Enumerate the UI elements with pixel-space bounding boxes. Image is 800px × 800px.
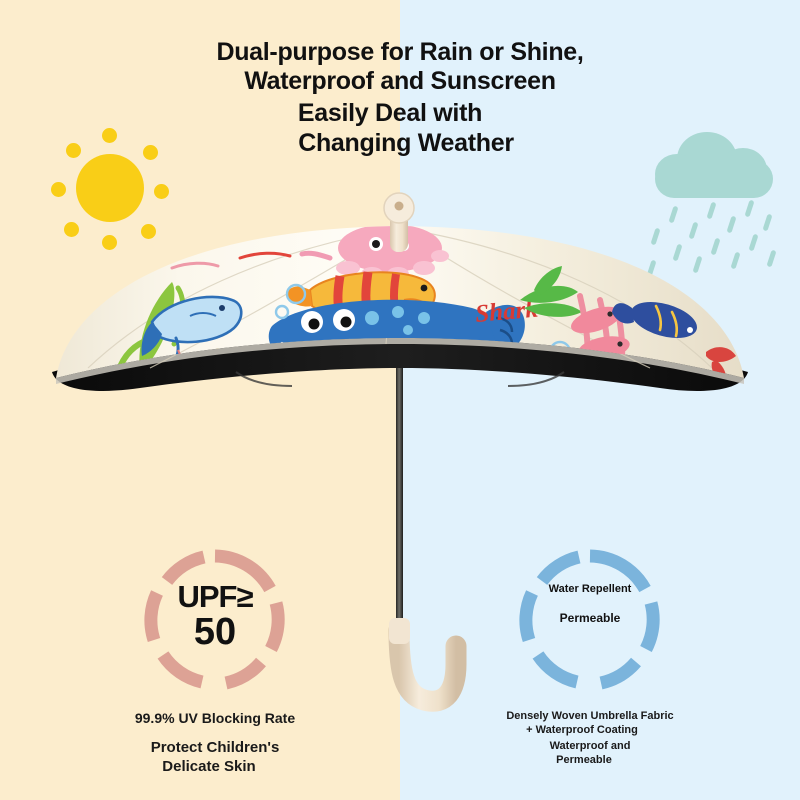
protect-children-caption: Protect Children's Delicate Skin <box>60 739 370 777</box>
fabric-caption: Densely Woven Umbrella Fabric + Waterpro… <box>435 710 745 738</box>
waterproof-badge: Water Repellent Permeable <box>515 545 665 695</box>
upf-label: UPF≥ <box>140 579 290 615</box>
fabric-caption-line-2: + Waterproof Coating <box>427 724 737 738</box>
handle-collar <box>389 618 410 644</box>
waterproof-caption-line-2: Permeable <box>429 754 739 768</box>
uv-blocking-caption: 99.9% UV Blocking Rate <box>60 710 370 728</box>
upf-badge: UPF≥ 50 <box>140 545 290 695</box>
permeable-label: Permeable <box>515 611 665 625</box>
protect-children-line-1: Protect Children's <box>60 739 370 758</box>
fabric-caption-line-1: Densely Woven Umbrella Fabric <box>435 710 745 724</box>
water-repellent-label: Water Repellent <box>515 583 665 595</box>
umbrella-illustration: Shark <box>0 0 800 800</box>
protect-children-line-2: Delicate Skin <box>54 758 364 777</box>
waterproof-caption: Waterproof and Permeable <box>435 740 745 768</box>
product-marketing-banner: Dual-purpose for Rain or Shine, Waterpro… <box>0 0 800 800</box>
upf-value: 50 <box>140 611 290 654</box>
waterproof-caption-line-1: Waterproof and <box>435 740 745 754</box>
